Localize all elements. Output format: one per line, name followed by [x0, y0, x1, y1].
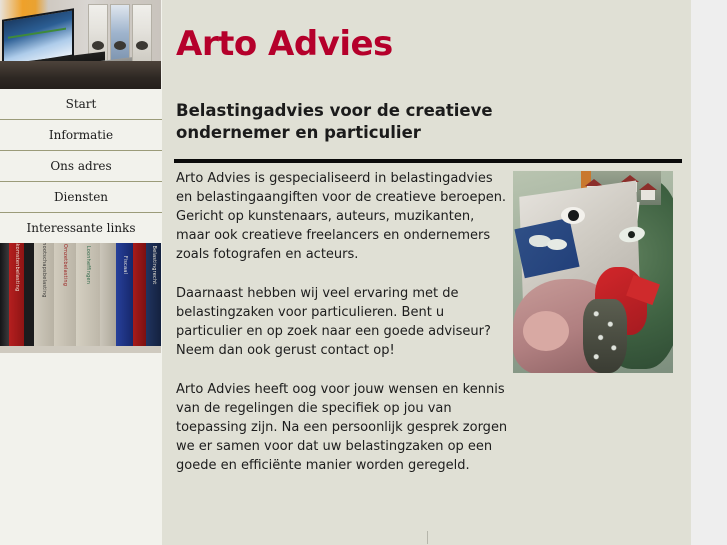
sidebar-item-label: Ons adres [50, 159, 111, 173]
sidebar-item-label: Start [66, 97, 97, 111]
page-bottom-marker [427, 531, 428, 544]
site-title: Arto Advies [176, 24, 393, 64]
sidebar-item-label: Diensten [54, 190, 108, 204]
book-spine-text: Loonheffingen [85, 246, 91, 284]
shelf-edge [0, 346, 161, 353]
paragraph: Daarnaast hebben wij veel ervaring met d… [176, 284, 510, 360]
book-spine-text: Fiscaal [122, 256, 128, 274]
tagline: Belastingadvies voor de creatieve ondern… [176, 100, 526, 144]
sidebar: Start Informatie Ons adres Diensten Inte… [0, 0, 162, 545]
painting-animal-eye [561, 207, 585, 224]
sidebar-item-ons-adres[interactable]: Ons adres [0, 151, 162, 182]
sidebar-menu: Start Informatie Ons adres Diensten Inte… [0, 89, 162, 243]
book-spine: Belastingrecht [146, 243, 161, 347]
ring-binder [110, 4, 130, 62]
body-text-column: Arto Advies is gespecialiseerd in belast… [176, 169, 510, 475]
office-photo [0, 0, 161, 89]
painting-pink-cheek [523, 311, 569, 351]
paragraph: Arto Advies is gespecialiseerd in belast… [176, 169, 510, 264]
book-spine [24, 243, 34, 347]
book-spine-text: Omzetbelasting [62, 244, 68, 286]
book-spine: Omzetbelasting [54, 243, 76, 347]
book-spine: Inkomstenbelasting [9, 243, 24, 347]
sidebar-item-label: Interessante links [26, 221, 135, 235]
bookshelf-photo: Inkomstenbelasting Vennootschapsbelastin… [0, 243, 161, 353]
desk-surface [0, 61, 161, 89]
sidebar-item-informatie[interactable]: Informatie [0, 120, 162, 151]
book-spine [100, 243, 116, 347]
painting-image [513, 171, 673, 373]
book-spine-text: Belastingrecht [151, 245, 157, 284]
book-spine: Loonheffingen [76, 243, 100, 347]
page-root: Start Informatie Ons adres Diensten Inte… [0, 0, 691, 545]
book-spine-text: Inkomstenbelasting [14, 243, 20, 291]
book-spine: Fiscaal [116, 243, 133, 347]
book-spine [0, 243, 9, 347]
sidebar-item-diensten[interactable]: Diensten [0, 182, 162, 213]
painting-milkmaid [547, 239, 567, 250]
book-spine-text: Vennootschapsbelasting [41, 243, 47, 297]
sidebar-item-label: Informatie [49, 128, 113, 142]
main-content: Arto Advies Belastingadvies voor de crea… [162, 0, 691, 545]
ring-binder [132, 4, 152, 62]
sidebar-item-start[interactable]: Start [0, 89, 162, 120]
header-divider [174, 159, 682, 163]
painting-flowering-branch [583, 299, 627, 373]
sidebar-item-interessante-links[interactable]: Interessante links [0, 213, 162, 243]
paragraph: Arto Advies heeft oog voor jouw wensen e… [176, 380, 510, 475]
book-spine [133, 243, 146, 347]
painting-house [641, 189, 655, 200]
book-spine: Vennootschapsbelasting [34, 243, 54, 347]
